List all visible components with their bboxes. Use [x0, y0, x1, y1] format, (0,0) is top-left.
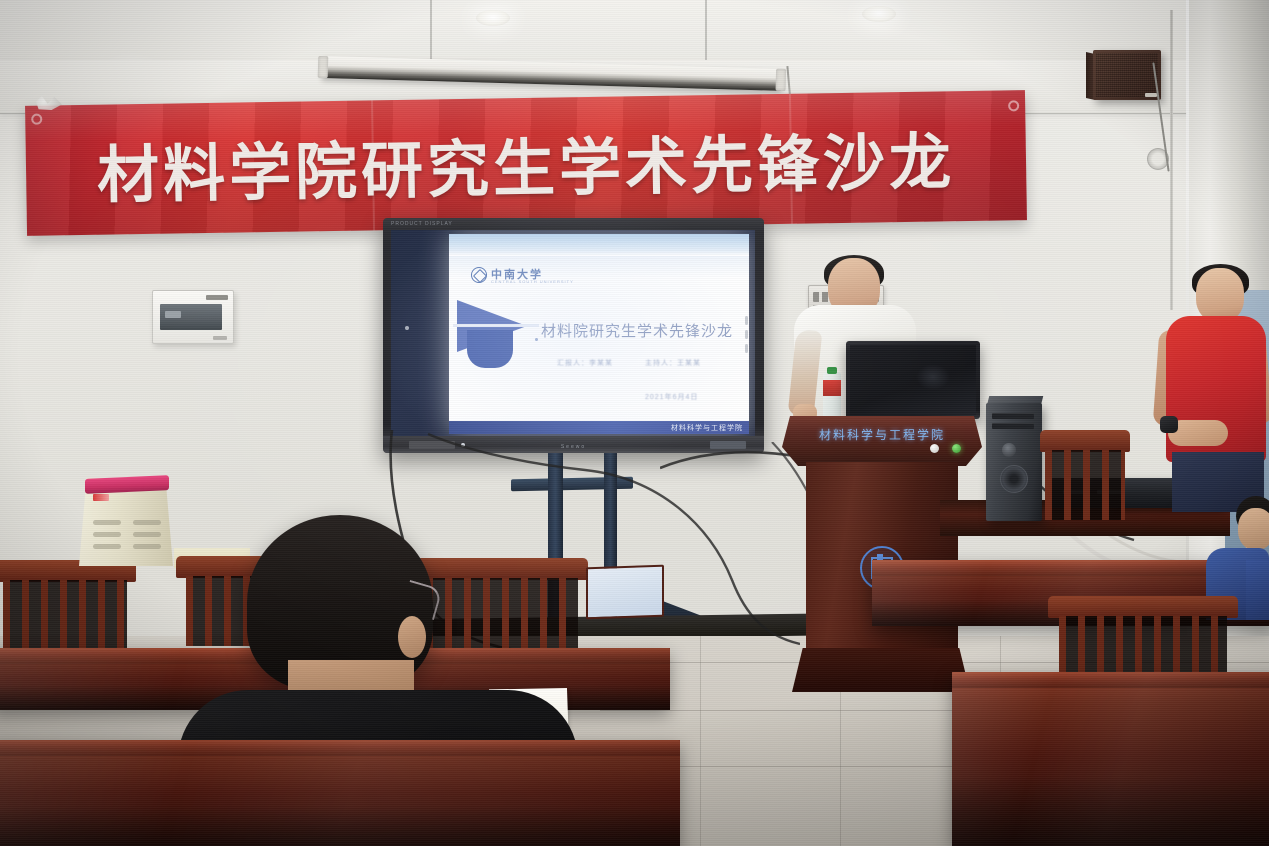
panel-breaker-switch[interactable]	[165, 311, 181, 318]
right-audience-head	[1238, 508, 1269, 550]
bottle-cap	[827, 367, 837, 374]
podium-monitor[interactable]	[846, 341, 980, 419]
podium-power-off-button[interactable]	[930, 444, 939, 453]
banner-grommet	[31, 114, 42, 125]
university-logo-icon	[471, 267, 487, 283]
tower-drive-bay[interactable]	[992, 413, 1034, 419]
pc-tower[interactable]	[986, 403, 1042, 521]
speaker-badge	[1145, 93, 1157, 97]
speaker-grill	[1096, 53, 1158, 97]
podium-title-text: 材料科学与工程学院	[782, 426, 982, 443]
desk-shadow	[952, 776, 1269, 846]
slide-title: 材料院研究生学术先锋沙龙	[541, 320, 741, 341]
podium-top-surface: 材料科学与工程学院	[782, 416, 982, 466]
slide-host-line: 主持人：王某某	[645, 358, 701, 368]
monitor-screen[interactable]	[850, 345, 976, 415]
slide-bullet-dot	[535, 338, 538, 341]
banner-title-text: 材料学院研究生学术先锋沙龙	[25, 90, 1027, 236]
ceiling-seam	[430, 0, 432, 66]
auxiliary-display[interactable]	[586, 565, 664, 620]
panel-screen[interactable]: 中南大学 CENTRAL SOUTH UNIVERSITY 材料院研究生学术先锋…	[391, 230, 755, 436]
graduation-cap-brim	[453, 324, 539, 327]
podium-base	[792, 648, 970, 692]
tower-drive-bay[interactable]	[992, 423, 1034, 429]
monitor-reflection	[916, 364, 950, 390]
chair[interactable]	[416, 558, 588, 662]
housing-end-cap	[776, 69, 787, 91]
podium-power-on-button[interactable]	[952, 444, 961, 453]
wall-speaker	[1093, 50, 1161, 100]
wristwatch	[1160, 416, 1178, 433]
lecture-desk	[0, 740, 680, 846]
tower-fan-vent	[1000, 465, 1028, 493]
panel-sublabel	[213, 336, 227, 340]
slide-date: 2021年6月4日	[645, 392, 698, 402]
panel-side-indicator	[745, 316, 748, 325]
chair[interactable]	[1040, 430, 1130, 536]
event-banner: 材料学院研究生学术先锋沙龙	[25, 90, 1027, 236]
slide-presenter-line: 汇报人：李某某	[557, 358, 613, 368]
university-logo-subtext: CENTRAL SOUTH UNIVERSITY	[491, 279, 574, 284]
chair-backrest	[416, 558, 588, 580]
far-right-person	[1246, 560, 1269, 620]
stool-brand-label	[93, 494, 109, 501]
wall-conduit	[1170, 10, 1173, 310]
panel-indicator-dot	[405, 326, 409, 330]
interactive-flat-panel-display[interactable]: PRODUCT DISPLAY 中南大学 CENTRAL SOUTH UNIVE…	[383, 218, 764, 453]
chair-slats	[1045, 450, 1124, 520]
panel-brand-label: PRODUCT DISPLAY	[391, 221, 453, 227]
banner-grommet	[1008, 100, 1019, 111]
panel-side-indicator	[745, 330, 748, 339]
graduation-cap-body	[467, 330, 513, 368]
lecture-desk	[952, 672, 1269, 846]
desk-shadow	[0, 806, 680, 846]
slide-top-band	[449, 234, 749, 256]
electrical-distribution-box[interactable]	[152, 290, 234, 344]
ceiling-seam	[705, 0, 707, 62]
panel-label	[206, 295, 228, 300]
chair-backrest	[1048, 596, 1238, 618]
chair-slats	[3, 580, 128, 650]
presentation-slide: 中南大学 CENTRAL SOUTH UNIVERSITY 材料院研究生学术先锋…	[449, 234, 749, 434]
chair-backrest	[1040, 430, 1130, 452]
housing-end-cap	[318, 56, 329, 78]
downlight	[476, 10, 510, 26]
panel-side-indicator	[745, 344, 748, 353]
assistant-head	[1196, 268, 1244, 322]
water-bottle[interactable]	[823, 372, 841, 420]
lecture-room-photo: 材料学院研究生学术先锋沙龙 PRODUCT DISPLAY 中南大学 CENTR…	[0, 0, 1269, 846]
audience-ear	[398, 616, 426, 658]
tower-power-button[interactable]	[1002, 443, 1016, 457]
downlight	[862, 6, 896, 22]
bottle-label	[823, 380, 841, 396]
chair-slats	[426, 578, 577, 648]
